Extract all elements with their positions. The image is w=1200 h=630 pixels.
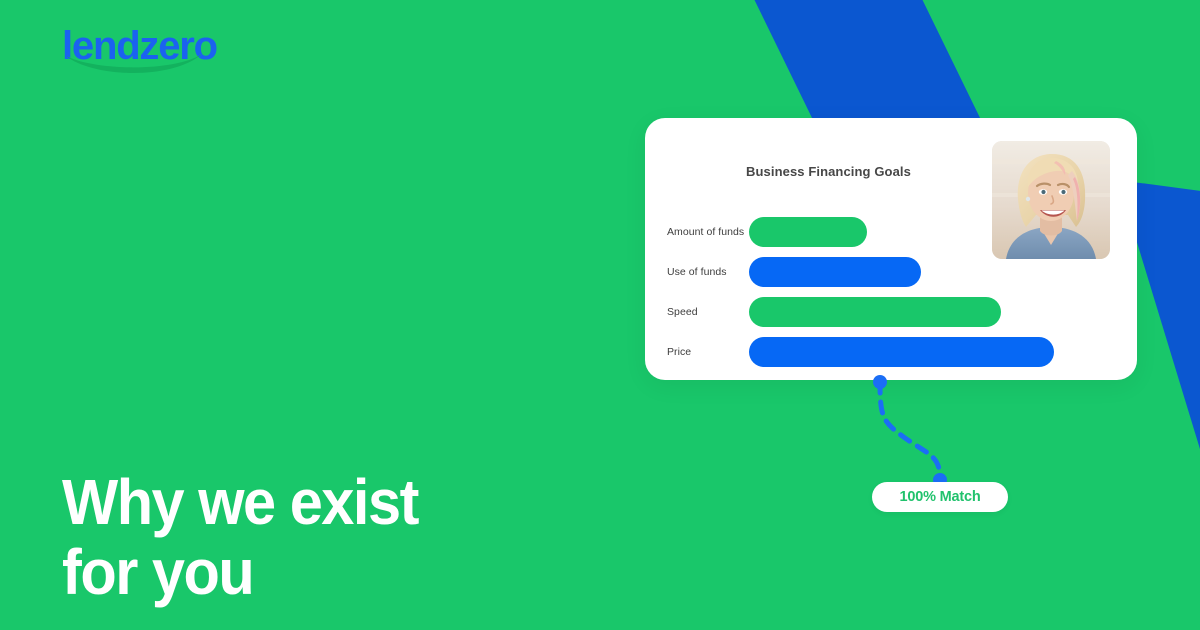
goal-row-label: Amount of funds xyxy=(667,226,747,238)
goal-row: Amount of funds xyxy=(667,212,1117,252)
match-badge-label: 100% Match xyxy=(899,489,980,505)
goal-row-bar xyxy=(749,217,867,247)
poster-canvas: lendzero Why we exist for you Business F… xyxy=(0,0,1200,630)
goal-row: Use of funds xyxy=(667,252,1117,292)
goal-row: Price xyxy=(667,332,1117,372)
page-headline: Why we exist for you xyxy=(62,467,418,607)
card-title: Business Financing Goals xyxy=(746,164,911,179)
goal-row-bar xyxy=(749,297,1001,327)
goal-row-label: Use of funds xyxy=(667,266,747,278)
goal-row-label: Price xyxy=(667,346,747,358)
goal-rows: Amount of funds Use of funds Speed Price xyxy=(667,212,1117,372)
connector-dashed-path xyxy=(880,382,940,480)
goal-row-label: Speed xyxy=(667,306,747,318)
brand-logo[interactable]: lendzero xyxy=(62,26,262,78)
connector-line xyxy=(855,370,975,500)
match-badge[interactable]: 100% Match xyxy=(872,482,1008,512)
brand-logo-swoosh-icon xyxy=(64,52,204,86)
goal-row-bar xyxy=(749,337,1054,367)
goal-row-bar xyxy=(749,257,921,287)
financing-goals-card: Business Financing Goals xyxy=(645,118,1137,380)
goal-row: Speed xyxy=(667,292,1117,332)
